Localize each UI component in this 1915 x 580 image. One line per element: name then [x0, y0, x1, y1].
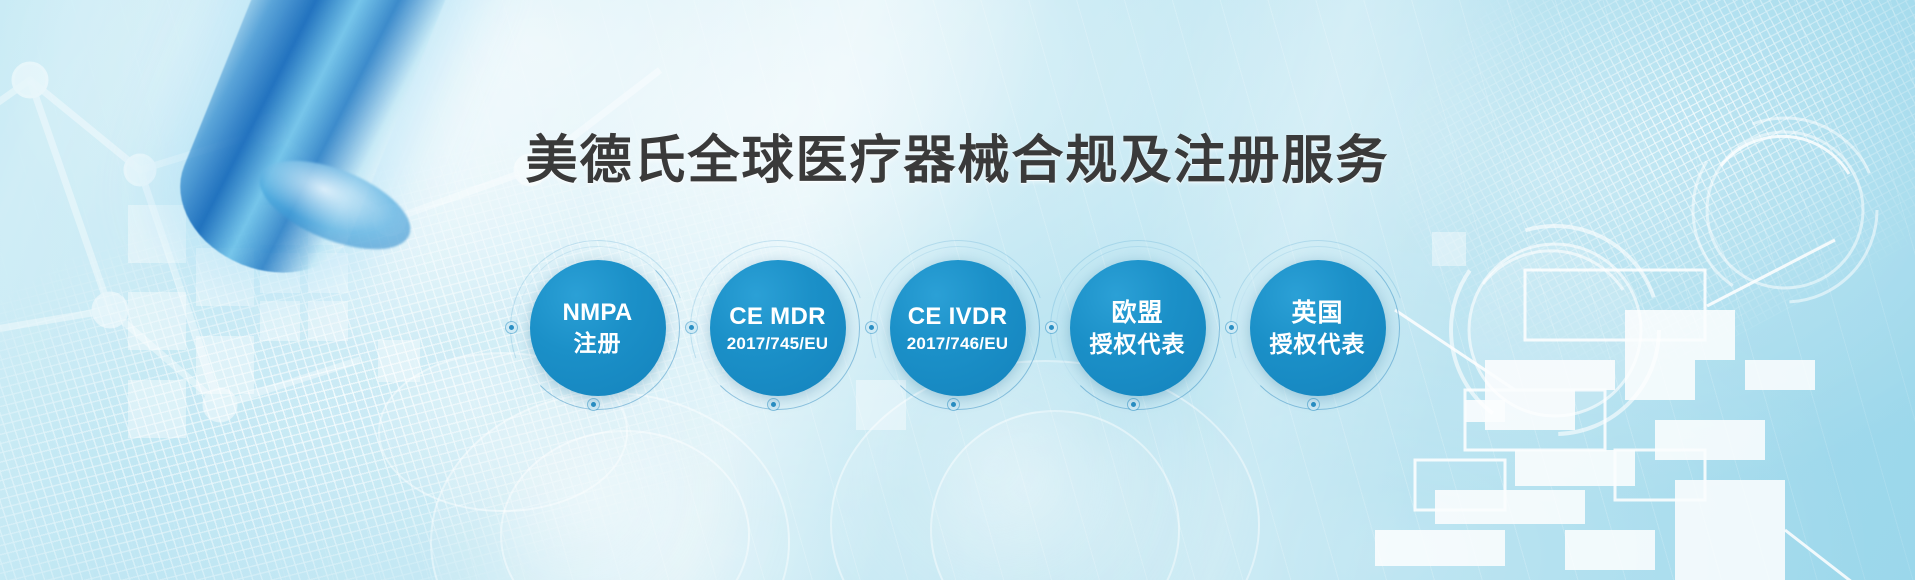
connector-node-icon: [1226, 322, 1237, 333]
decorative-square: [308, 205, 348, 245]
connector-node-icon: [1128, 399, 1139, 410]
connector-node-icon: [1046, 322, 1057, 333]
badge-main-label: CE MDR: [729, 302, 825, 332]
badge-sub-label: 2017/745/EU: [727, 333, 828, 354]
badge-sub-label: 注册: [574, 329, 622, 358]
badge-sub-label: 2017/746/EU: [907, 333, 1008, 354]
badge-main-label: 欧盟: [1111, 298, 1163, 329]
service-badge-nmpa[interactable]: NMPA 注册: [510, 240, 686, 416]
badge-main-label: 英国: [1291, 298, 1343, 329]
badge-sub-label: 授权代表: [1270, 330, 1366, 359]
banner-hero: 美德氏全球医疗器械合规及注册服务 NMPA 注册 CE MDR 2017/745…: [0, 0, 1915, 580]
petri-dish-lens: [430, 392, 790, 580]
connector-node-icon: [1308, 399, 1319, 410]
service-badge-ce-mdr[interactable]: CE MDR 2017/745/EU: [690, 240, 866, 416]
petri-dish-lens: [500, 430, 750, 580]
badge-circle[interactable]: 欧盟 授权代表: [1070, 260, 1206, 396]
badge-main-label: CE IVDR: [908, 302, 1007, 332]
connector-node-icon: [948, 399, 959, 410]
connector-node-icon: [506, 322, 517, 333]
badge-circle[interactable]: CE IVDR 2017/746/EU: [890, 260, 1026, 396]
service-badge-uk-authorized-rep[interactable]: 英国 授权代表: [1230, 240, 1406, 416]
service-badge-row: NMPA 注册 CE MDR 2017/745/EU CE IVDR 2017/…: [0, 240, 1915, 416]
badge-circle[interactable]: CE MDR 2017/745/EU: [710, 260, 846, 396]
service-badge-eu-authorized-rep[interactable]: 欧盟 授权代表: [1050, 240, 1226, 416]
connector-node-icon: [686, 322, 697, 333]
badge-main-label: NMPA: [562, 298, 632, 328]
badge-sub-label: 授权代表: [1090, 330, 1186, 359]
connector-node-icon: [588, 399, 599, 410]
connector-node-icon: [768, 399, 779, 410]
badge-circle[interactable]: 英国 授权代表: [1250, 260, 1386, 396]
page-title: 美德氏全球医疗器械合规及注册服务: [0, 118, 1915, 193]
badge-circle[interactable]: NMPA 注册: [530, 260, 666, 396]
connector-node-icon: [866, 322, 877, 333]
petri-dish-lens: [930, 410, 1180, 580]
service-badge-ce-ivdr[interactable]: CE IVDR 2017/746/EU: [870, 240, 1046, 416]
decorative-square: [260, 205, 300, 245]
